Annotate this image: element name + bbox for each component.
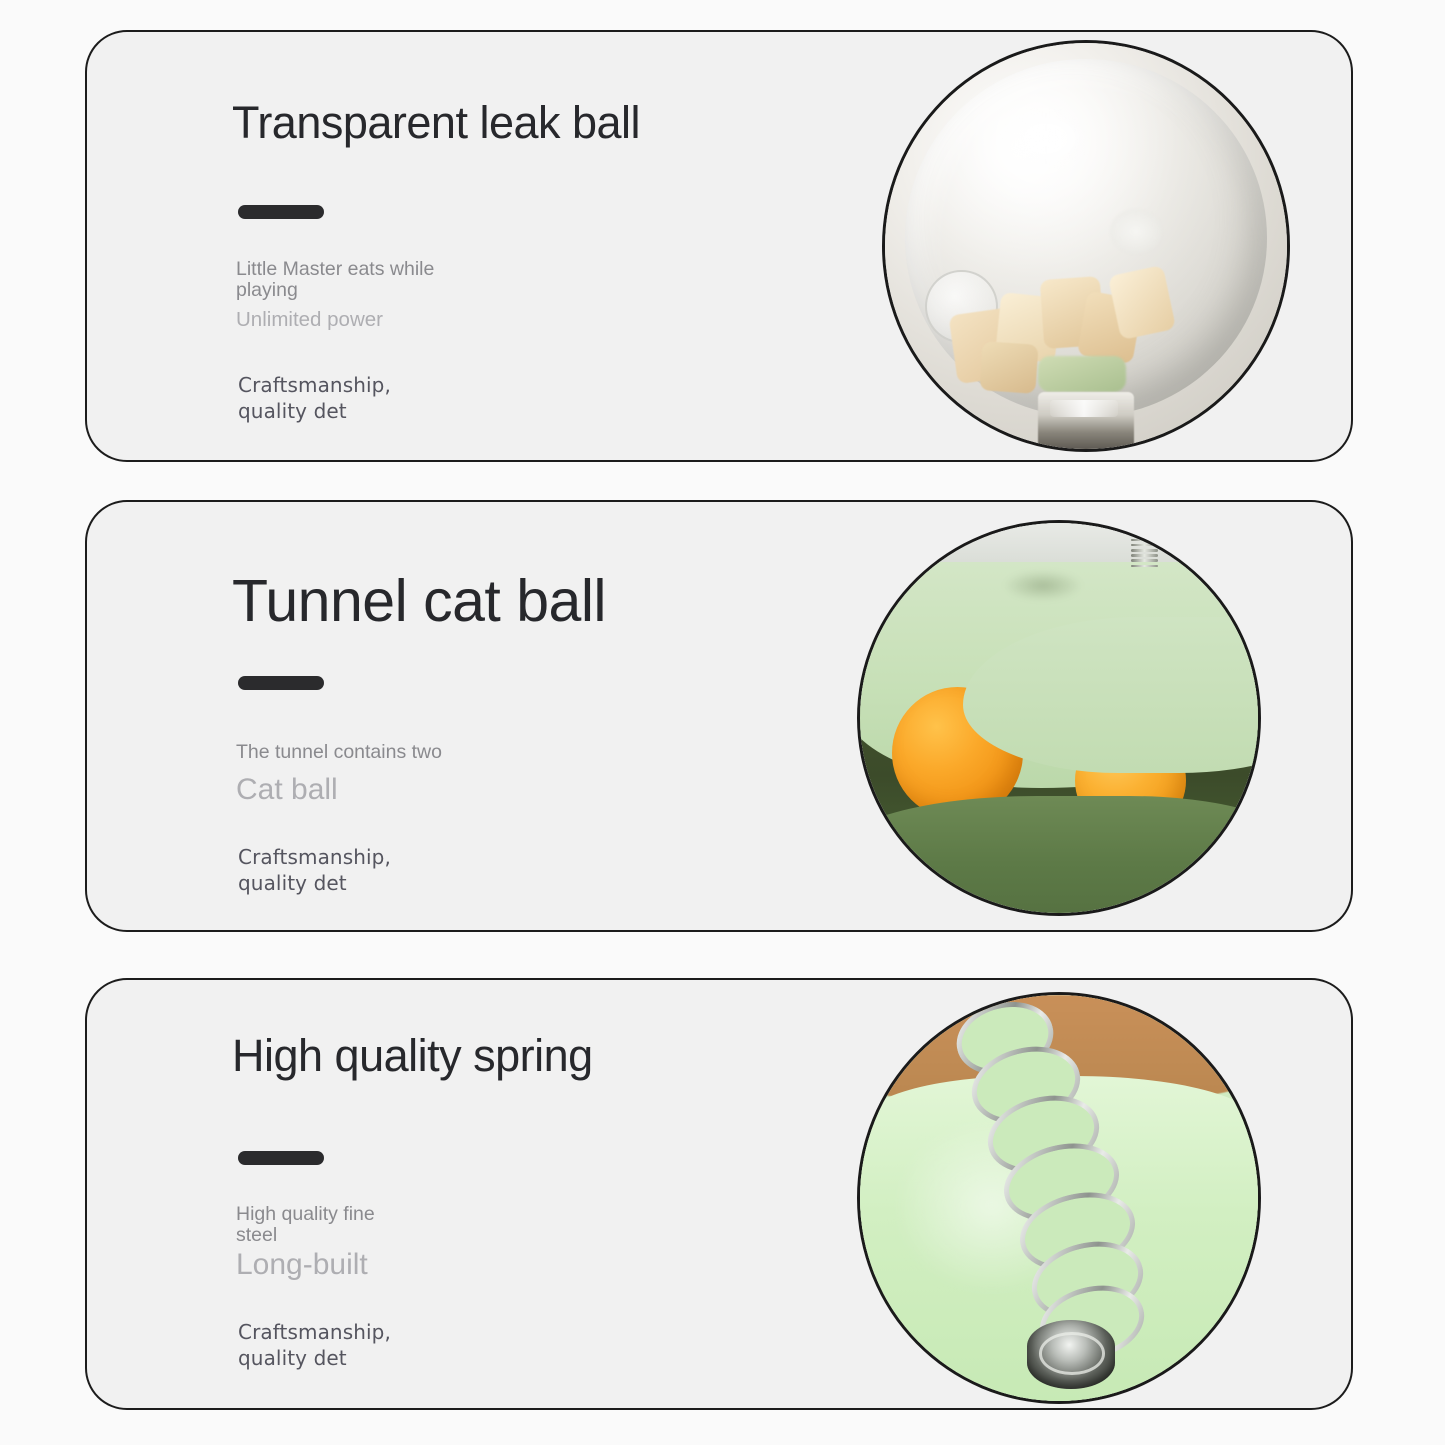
feature-subtitle-secondary: Long-built xyxy=(236,1250,368,1280)
feature-divider-bar xyxy=(238,676,324,690)
feature-subtitle-primary: The tunnel contains two xyxy=(236,742,442,763)
feature-footnote: Craftsmanship, quality det xyxy=(238,1320,391,1371)
feature-divider-bar xyxy=(238,1151,324,1165)
feature-subtitle-primary: High quality fine steel xyxy=(236,1204,375,1246)
feature-footnote: Craftsmanship, quality det xyxy=(238,373,391,424)
feature-subtitle-secondary: Unlimited power xyxy=(236,310,383,331)
spring-icon xyxy=(1131,539,1159,594)
tunnel-cat-ball-photo xyxy=(857,520,1261,916)
feature-list-page: Transparent leak ball Little Master eats… xyxy=(0,0,1445,1445)
feature-title: High quality spring xyxy=(232,1033,593,1078)
feature-title: Transparent leak ball xyxy=(232,100,640,145)
feature-subtitle-primary: Little Master eats while playing xyxy=(236,259,434,301)
feature-divider-bar xyxy=(238,205,324,219)
high-quality-spring-photo xyxy=(857,992,1261,1404)
transparent-leak-ball-photo xyxy=(882,40,1290,452)
feature-footnote: Craftsmanship, quality det xyxy=(238,845,391,896)
feature-subtitle-secondary: Cat ball xyxy=(236,775,338,805)
feature-title: Tunnel cat ball xyxy=(232,572,606,631)
